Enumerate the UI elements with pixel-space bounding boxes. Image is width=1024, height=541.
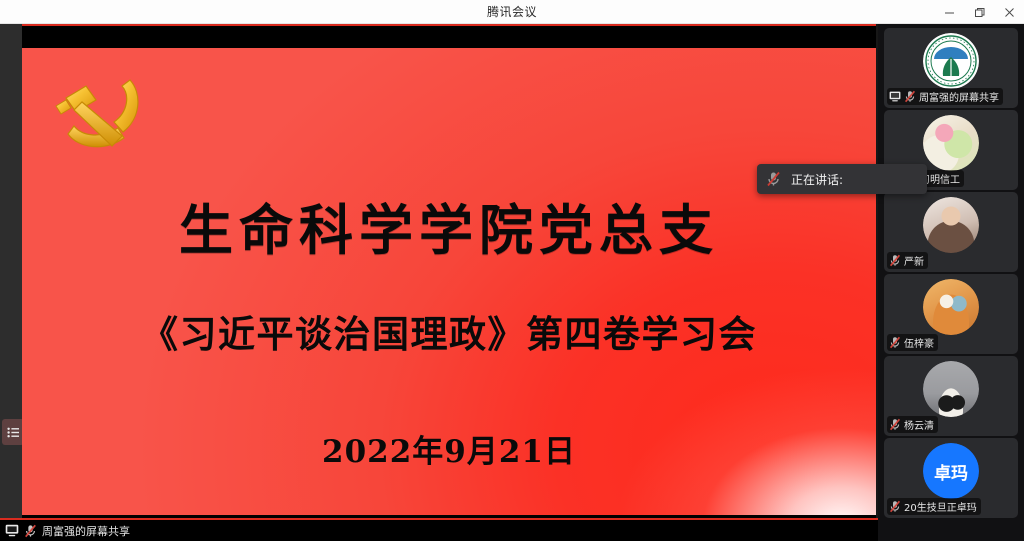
speaking-now-label: 正在讲话: — [791, 171, 843, 188]
microphone-muted-icon — [889, 254, 901, 267]
flower-photo-avatar — [923, 115, 979, 171]
share-border-bottom — [0, 518, 878, 520]
window-title: 腾讯会议 — [487, 3, 537, 20]
cpc-party-emblem-icon — [38, 62, 166, 162]
avatar — [923, 33, 979, 89]
participant-tile[interactable]: 卓玛 20生技旦正卓玛 — [884, 438, 1018, 518]
university-logo-icon — [923, 33, 979, 89]
slide-date: 2022年9月21日 — [22, 426, 876, 471]
participant-tile[interactable]: 严新 — [884, 192, 1018, 272]
avatar — [923, 115, 979, 171]
slide-subtitle: 《习近平谈治国理政》第四卷学习会 — [22, 304, 876, 358]
participant-name: 伍梓豪 — [904, 335, 934, 350]
avatar — [923, 197, 979, 253]
title-bar: 腾讯会议 — [0, 0, 1024, 24]
initials-avatar: 卓玛 — [923, 443, 979, 499]
avatar — [923, 279, 979, 335]
participant-footer: 严新 — [887, 252, 928, 269]
participant-name: 严新 — [904, 253, 924, 268]
participant-footer: 周富强的屏幕共享 — [887, 88, 1003, 105]
avatar — [923, 361, 979, 417]
participant-tile[interactable]: 周富强的屏幕共享 — [884, 28, 1018, 108]
microphone-muted-icon — [766, 171, 781, 187]
participants-sidebar[interactable]: 周富强的屏幕共享 — [878, 24, 1024, 541]
share-status-bar: 周富强的屏幕共享 — [0, 520, 878, 541]
microphone-muted-icon — [24, 524, 37, 538]
window-controls — [934, 0, 1024, 24]
minimize-button[interactable] — [934, 0, 964, 24]
left-rail — [0, 24, 22, 520]
close-button[interactable] — [994, 0, 1024, 24]
list-icon — [7, 427, 20, 438]
participant-name: 杨云清 — [904, 417, 934, 432]
participant-footer: 20生技旦正卓玛 — [887, 498, 981, 515]
participant-name: 周富强的屏幕共享 — [919, 89, 999, 104]
screen-share-icon — [5, 524, 19, 537]
microphone-muted-icon — [889, 418, 901, 431]
participant-tile[interactable]: 杨云清 — [884, 356, 1018, 436]
microphone-muted-icon — [889, 500, 901, 513]
speaking-now-toast: 正在讲话: — [757, 164, 927, 194]
participant-name: 20生技旦正卓玛 — [904, 499, 977, 514]
restore-button[interactable] — [964, 0, 994, 24]
microphone-muted-icon — [889, 336, 901, 349]
participant-tile[interactable]: 伍梓豪 — [884, 274, 1018, 354]
avatar: 卓玛 — [923, 443, 979, 499]
screen-share-icon — [889, 91, 901, 102]
participant-footer: 杨云清 — [887, 416, 938, 433]
meeting-content: 生命科学学院党总支 《习近平谈治国理政》第四卷学习会 2022年9月21日 正在… — [0, 24, 1024, 541]
tencent-meeting-window: 腾讯会议 — [0, 0, 1024, 541]
slide-title: 生命科学学院党总支 — [22, 186, 876, 265]
share-status-text: 周富强的屏幕共享 — [42, 523, 130, 539]
presentation-slide: 生命科学学院党总支 《习近平谈治国理政》第四卷学习会 2022年9月21日 — [22, 48, 876, 515]
shared-screen-stage[interactable]: 生命科学学院党总支 《习近平谈治国理政》第四卷学习会 2022年9月21日 — [22, 24, 876, 520]
cat-photo-avatar — [923, 279, 979, 335]
panda-photo-avatar — [923, 361, 979, 417]
share-border-top — [22, 24, 876, 26]
microphone-muted-icon — [904, 90, 916, 103]
participant-footer: 伍梓豪 — [887, 334, 938, 351]
list-panel-toggle-button[interactable] — [2, 419, 24, 445]
person-photo-avatar — [923, 197, 979, 253]
